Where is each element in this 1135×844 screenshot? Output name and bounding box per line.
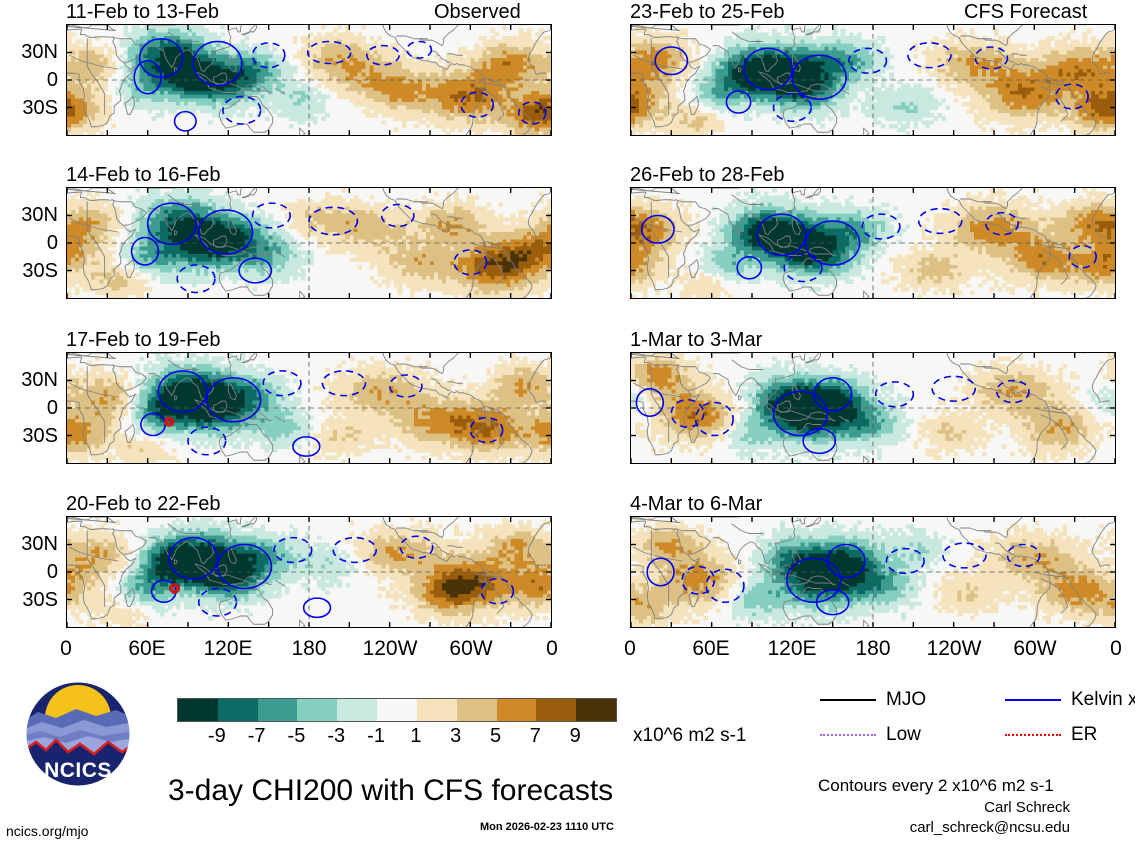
map-plot-svg (631, 188, 1115, 298)
y-axis-tick-30n-row1: 30N (0, 42, 58, 62)
map-panel-left-4[interactable] (66, 516, 552, 628)
map-plot-svg (67, 188, 551, 298)
x-axis-tick-1-3: 180 (833, 638, 913, 659)
x-axis-tick-1-0: 0 (590, 638, 670, 659)
legend-item-kelvin-x2: Kelvin x2 (1005, 690, 1135, 709)
map-panel-right-3[interactable] (630, 352, 1116, 464)
author-name: Carl Schreck (840, 800, 1070, 815)
x-axis-tick-0-1: 60E (107, 638, 187, 659)
legend-item-low: Low (820, 725, 921, 744)
x-axis-tick-0-0: 0 (26, 638, 106, 659)
panel-title-right-1: 23-Feb to 25-Feb (630, 2, 785, 22)
map-panel-right-4[interactable] (630, 516, 1116, 628)
legend-label: Kelvin x2 (1071, 690, 1135, 709)
colorbar (177, 698, 617, 722)
y-axis-tick-30n-row2: 30N (0, 205, 58, 225)
y-axis-tick-30s-row2: 30S (0, 261, 58, 281)
legend-label: Low (886, 725, 921, 744)
page-title: 3-day CHI200 with CFS forecasts (168, 776, 613, 806)
y-axis-tick-0-row2: 0 (0, 233, 58, 253)
colorbar-units-label: x10^6 m2 s-1 (633, 726, 746, 745)
legend-line-swatch-icon (1005, 734, 1061, 736)
author-email: carl_schreck@ncsu.edu (840, 820, 1070, 835)
colorbar-segment-9 (536, 699, 576, 721)
column-header-cfs-forecast: CFS Forecast (964, 2, 1087, 22)
colorbar-segment-7 (457, 699, 497, 721)
legend-line-swatch-icon (1005, 699, 1061, 701)
column-header-observed: Observed (434, 2, 521, 22)
colorbar-segment-8 (497, 699, 537, 721)
map-panel-right-2[interactable] (630, 187, 1116, 299)
map-panel-right-1[interactable] (630, 24, 1116, 136)
colorbar-segment-0 (178, 699, 218, 721)
y-axis-tick-30s-row4: 30S (0, 590, 58, 610)
map-plot-svg (631, 353, 1115, 463)
map-panel-left-1[interactable] (66, 24, 552, 136)
colorbar-segment-5 (377, 699, 417, 721)
panel-title-left-1: 11-Feb to 13-Feb (66, 2, 219, 22)
x-axis-tick-1-4: 120W (914, 638, 994, 659)
x-axis-tick-1-2: 120E (752, 638, 832, 659)
site-url-link[interactable]: ncics.org/mjo (6, 824, 88, 838)
legend-line-swatch-icon (820, 699, 876, 701)
colorbar-segment-2 (258, 699, 298, 721)
panel-title-left-3: 17-Feb to 19-Feb (66, 330, 221, 350)
x-axis-tick-1-1: 60E (671, 638, 751, 659)
colorbar-segment-6 (417, 699, 457, 721)
y-axis-tick-30n-row4: 30N (0, 534, 58, 554)
x-axis-tick-0-2: 120E (188, 638, 268, 659)
x-axis-tick-0-3: 180 (269, 638, 349, 659)
x-axis-tick-0-6: 0 (512, 638, 592, 659)
colorbar-segment-3 (297, 699, 337, 721)
legend-line-swatch-icon (820, 734, 876, 736)
y-axis-tick-0-row4: 0 (0, 562, 58, 582)
colorbar-tick-9: 9 (545, 726, 605, 746)
map-panel-left-2[interactable] (66, 187, 552, 299)
legend-label: ER (1071, 725, 1097, 744)
contour-interval-note: Contours every 2 x10^6 m2 s-1 (818, 777, 1054, 794)
map-plot-svg (67, 25, 551, 135)
y-axis-tick-30n-row3: 30N (0, 370, 58, 390)
map-plot-svg (631, 517, 1115, 627)
y-axis-tick-30s-row1: 30S (0, 98, 58, 118)
panel-title-right-3: 1-Mar to 3-Mar (630, 330, 762, 350)
legend-item-er: ER (1005, 725, 1097, 744)
y-axis-tick-30s-row3: 30S (0, 426, 58, 446)
y-axis-tick-0-row1: 0 (0, 70, 58, 90)
colorbar-segment-1 (218, 699, 258, 721)
x-axis-tick-0-4: 120W (350, 638, 430, 659)
x-axis-tick-1-5: 60W (995, 638, 1075, 659)
panel-title-right-4: 4-Mar to 6-Mar (630, 494, 762, 514)
x-axis-tick-1-6: 0 (1076, 638, 1135, 659)
panel-title-left-2: 14-Feb to 16-Feb (66, 165, 221, 185)
panel-title-left-4: 20-Feb to 22-Feb (66, 494, 221, 514)
x-axis-tick-0-5: 60W (431, 638, 511, 659)
colorbar-segment-4 (337, 699, 377, 721)
colorbar-segment-10 (576, 699, 616, 721)
map-panel-left-3[interactable] (66, 352, 552, 464)
ncics-logo[interactable]: NCICS (22, 678, 134, 795)
y-axis-tick-0-row3: 0 (0, 398, 58, 418)
map-plot-svg (631, 25, 1115, 135)
map-plot-svg (67, 353, 551, 463)
panel-title-right-2: 26-Feb to 28-Feb (630, 165, 785, 185)
map-plot-svg (67, 517, 551, 627)
ncics-logo-svg: NCICS (22, 678, 134, 790)
legend-item-mjo: MJO (820, 690, 926, 709)
timestamp: Mon 2026-02-23 1110 UTC (480, 822, 614, 833)
legend-label: MJO (886, 690, 926, 709)
